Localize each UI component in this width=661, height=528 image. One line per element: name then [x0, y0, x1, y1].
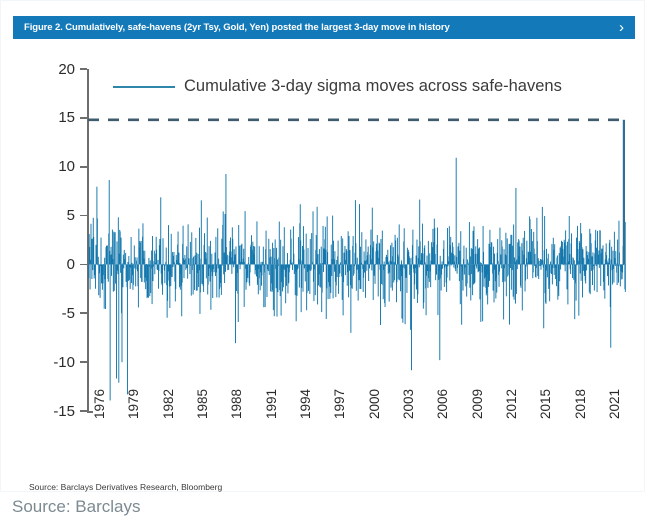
x-tick-label: 1985: [196, 389, 210, 419]
x-tick-label: 1997: [333, 389, 347, 419]
y-tick-label-text: -15: [25, 404, 75, 419]
y-tick-label-text: -5: [25, 306, 75, 321]
x-tick-label: 1982: [162, 389, 176, 419]
x-tick-label: 2018: [574, 389, 588, 419]
figure-card: Figure 2. Cumulatively, safe-havens (2yr…: [0, 0, 645, 492]
y-tick-mark: [80, 215, 87, 217]
chart-source-note: Source: Barclays Derivatives Research, B…: [29, 482, 222, 492]
y-tick-label: 10: [25, 159, 75, 174]
y-tick-label-text: 5: [25, 208, 75, 223]
y-tick-mark: [80, 361, 87, 363]
x-tick-label: 1979: [127, 389, 141, 419]
y-tick-label-text: -10: [25, 355, 75, 370]
y-tick-label: -5: [25, 306, 75, 321]
y-tick-label: 0: [25, 257, 75, 272]
x-tick-label: 2003: [402, 389, 416, 419]
x-tick-label: 2006: [436, 389, 450, 419]
chevron-right-icon[interactable]: ›: [619, 20, 626, 35]
y-tick-label-text: 20: [25, 62, 75, 77]
x-tick-label: 1988: [230, 389, 244, 419]
y-tick-label-text: 15: [25, 110, 75, 125]
x-tick-label: 2021: [608, 389, 622, 419]
plot-area: [88, 69, 626, 411]
y-tick-label: 15: [25, 110, 75, 125]
series-cumulative-3day-sigma: [88, 120, 626, 401]
y-tick-label-text: 0: [25, 257, 75, 272]
y-tick-mark: [80, 117, 87, 119]
x-tick-label: 2009: [471, 389, 485, 419]
y-tick-label: 20: [25, 62, 75, 77]
y-tick-mark: [80, 312, 87, 314]
x-tick-label: 1991: [265, 389, 279, 419]
y-tick-mark: [80, 68, 87, 70]
y-tick-label: -10: [25, 355, 75, 370]
y-tick-label-text: 10: [25, 159, 75, 174]
figure-title: Figure 2. Cumulatively, safe-havens (2yr…: [24, 22, 450, 33]
y-tick-mark: [80, 410, 87, 412]
y-tick-label: 5: [25, 208, 75, 223]
bottom-source-caption: Source: Barclays: [12, 497, 141, 517]
x-tick-label: 1976: [93, 389, 107, 419]
y-tick-label: -15: [25, 404, 75, 419]
chart-area: Cumulative 3-day sigma moves across safe…: [1, 45, 646, 493]
x-tick-label: 2000: [368, 389, 382, 419]
y-tick-mark: [80, 264, 87, 266]
x-tick-label: 1994: [299, 389, 313, 419]
x-tick-label: 2012: [505, 389, 519, 419]
figure-header-banner: Figure 2. Cumulatively, safe-havens (2yr…: [13, 16, 635, 39]
y-tick-mark: [80, 166, 87, 168]
chart-plot-svg: [88, 69, 626, 411]
x-tick-label: 2015: [539, 389, 553, 419]
